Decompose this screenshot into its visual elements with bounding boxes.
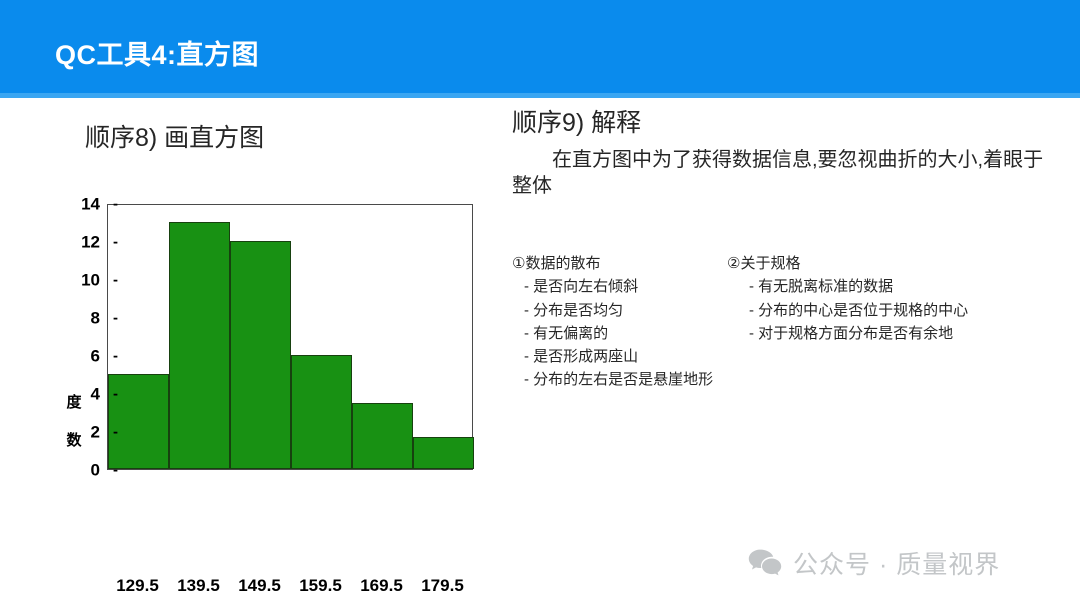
x-axis-tick-label: 169.5 <box>360 576 403 596</box>
criteria-title: ②关于规格 <box>727 252 1077 275</box>
y-axis-tick-labels: 02468101214 <box>60 98 100 607</box>
histogram-bar <box>413 437 474 469</box>
y-axis-tick-label: 12 <box>81 234 100 251</box>
watermark: 公众号 · 质量视界 <box>748 545 1000 581</box>
x-axis-tick-label: 159.5 <box>299 576 342 596</box>
y-axis-tick-mark: - <box>113 387 118 402</box>
y-axis-tick-label: 2 <box>91 424 100 441</box>
criteria-item: ‑ 是否形成两座山 <box>512 345 742 368</box>
y-axis-tick-mark: - <box>113 197 118 212</box>
criteria-item: ‑ 有无偏离的 <box>512 322 742 345</box>
criteria-item: ‑ 是否向左右倾斜 <box>512 275 742 298</box>
y-axis-tick-label: 8 <box>91 310 100 327</box>
criteria-item: ‑ 分布的中心是否位于规格的中心 <box>727 299 1077 322</box>
criteria-column-specification: ②关于规格‑ 有无脱离标准的数据‑ 分布的中心是否位于规格的中心‑ 对于规格方面… <box>727 252 1077 345</box>
y-axis-tick-label: 10 <box>81 272 100 289</box>
wechat-icon <box>748 549 782 578</box>
y-axis-tick-mark: - <box>113 349 118 364</box>
explanation-heading: 顺序9) 解释 <box>512 110 1080 138</box>
histogram-bar <box>291 355 352 469</box>
y-axis-tick-mark: - <box>113 235 118 250</box>
x-axis-tick-label: 139.5 <box>177 576 220 596</box>
histogram-bar <box>169 222 230 469</box>
y-axis-tick-label: 14 <box>81 196 100 213</box>
x-axis-tick-label: 179.5 <box>421 576 464 596</box>
criteria-column-data-dispersion: ①数据的散布‑ 是否向左右倾斜‑ 分布是否均匀‑ 有无偏离的‑ 是否形成两座山‑… <box>512 252 742 392</box>
histogram-bar <box>352 403 413 470</box>
histogram-bar <box>230 241 291 469</box>
plot-frame <box>107 204 473 470</box>
criteria-title: ①数据的散布 <box>512 252 742 275</box>
x-axis-tick-label: 149.5 <box>238 576 281 596</box>
explanation-panel: 顺序9) 解释 在直方图中为了获得数据信息,要忽视曲折的大小,着眼于整体 ①数据… <box>512 110 1080 199</box>
y-axis-tick-label: 0 <box>91 462 100 479</box>
criteria-item: ‑ 分布的左右是否是悬崖地形 <box>512 368 742 391</box>
y-axis-tick-mark: - <box>113 311 118 326</box>
criteria-item: ‑ 分布是否均匀 <box>512 299 742 322</box>
chart-panel: 顺序8) 画直方图 度数 02468101214 --------129.513… <box>0 98 520 607</box>
y-axis-tick-mark: - <box>113 273 118 288</box>
explanation-paragraph: 在直方图中为了获得数据信息,要忽视曲折的大小,着眼于整体 <box>512 147 1052 200</box>
y-axis-tick-label: 4 <box>91 386 100 403</box>
watermark-text: 公众号 · 质量视界 <box>793 545 1000 581</box>
y-axis-tick-mark: - <box>113 463 118 478</box>
criteria-item: ‑ 对于规格方面分布是否有余地 <box>727 322 1077 345</box>
y-axis-tick-label: 6 <box>91 348 100 365</box>
page-title: QC工具4:直方图 <box>55 33 259 72</box>
y-axis-tick-mark: - <box>113 425 118 440</box>
histogram-chart: 度数 02468101214 --------129.5139.5149.515… <box>0 98 520 607</box>
x-axis-tick-label: 129.5 <box>116 576 159 596</box>
criteria-item: ‑ 有无脱离标准的数据 <box>727 275 1077 298</box>
